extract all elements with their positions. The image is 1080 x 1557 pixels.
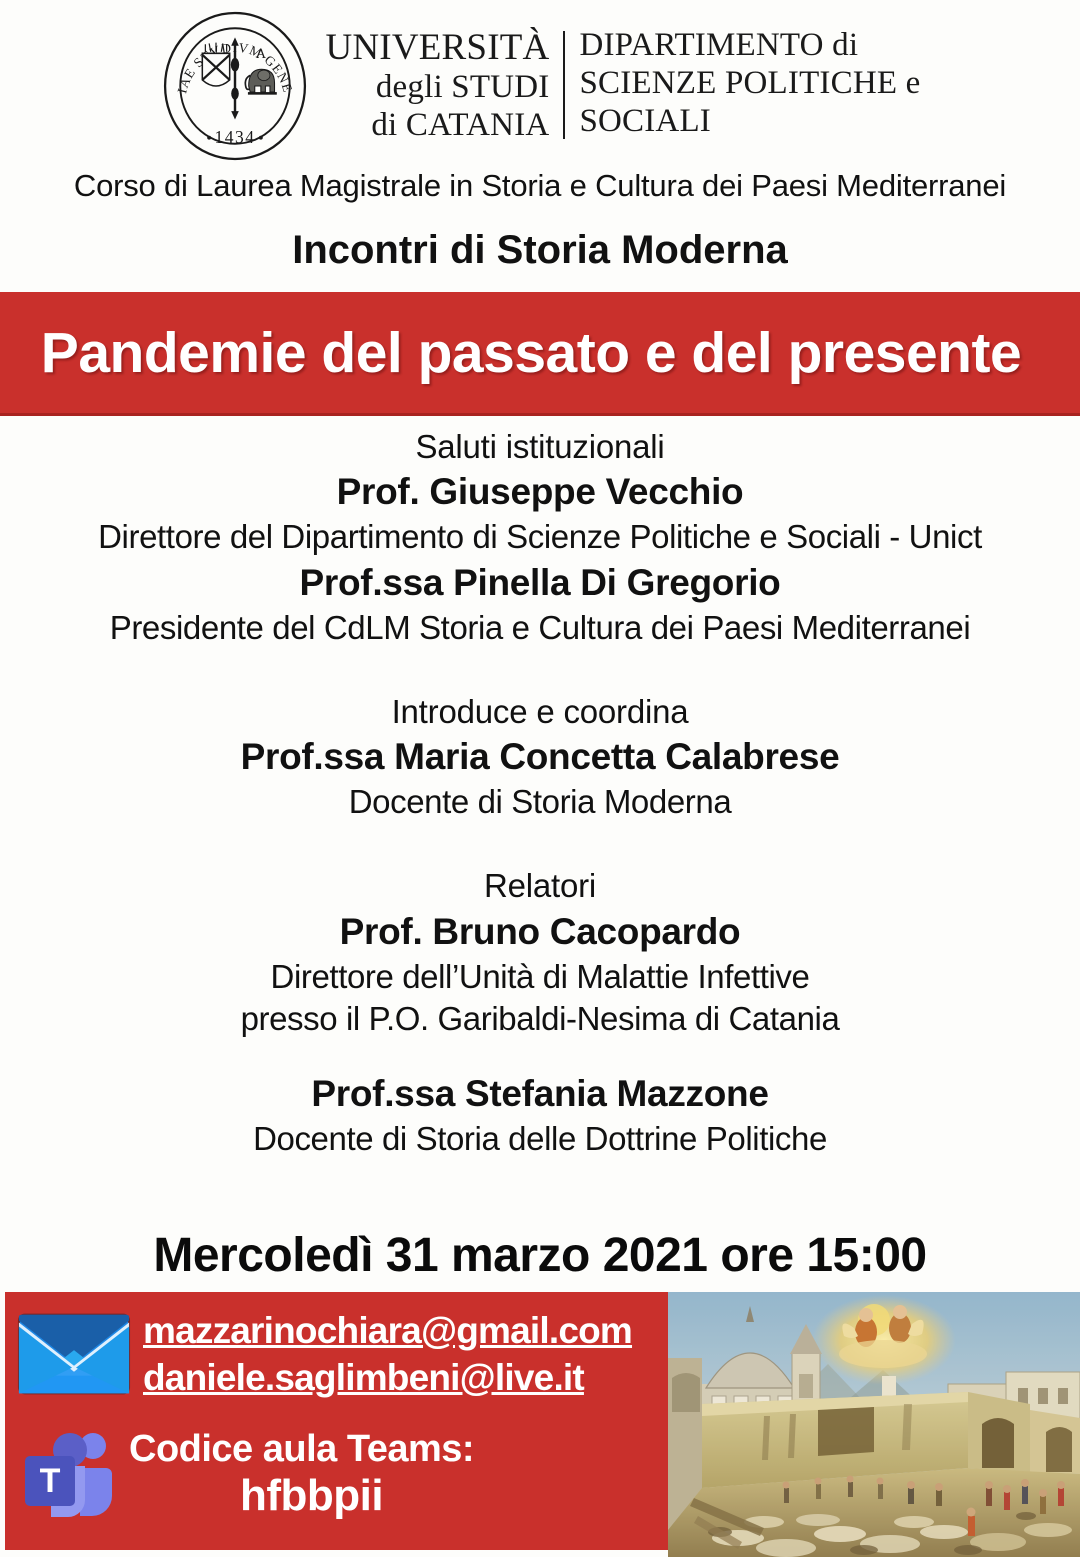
speaker-affiliation: Docente di Storia Moderna: [0, 781, 1080, 823]
spacer: [0, 649, 1080, 691]
teams-info: Codice aula Teams: hfbbpii: [129, 1428, 474, 1521]
university-line-3: di CATANIA: [325, 107, 549, 145]
event-datetime: Mercoledì 31 marzo 2021 ore 15:00: [0, 1228, 1080, 1283]
department-line-3: SOCIALI: [579, 103, 920, 141]
speaker-affiliation-2: presso il P.O. Garibaldi-Nesima di Catan…: [0, 998, 1080, 1040]
speaker-affiliation: Docente di Storia delle Dottrine Politic…: [0, 1118, 1080, 1160]
spacer: [0, 1040, 1080, 1070]
email-row: mazzarinochiara@gmail.com daniele.saglim…: [15, 1306, 660, 1402]
program-group-speakers: Relatori Prof. Bruno Cacopardo Direttore…: [0, 865, 1080, 1160]
speaker-name: Prof.ssa Maria Concetta Calabrese: [0, 733, 1080, 781]
teams-code-label: Codice aula Teams:: [129, 1428, 474, 1471]
university-line-1: UNIVERSITÀ: [325, 27, 549, 69]
speaker-affiliation: Direttore dell’Unità di Malattie Infetti…: [0, 956, 1080, 998]
speaker-name: Prof. Giuseppe Vecchio: [0, 468, 1080, 516]
university-seal-icon: SICILIAE STVDIVM GENERALE A 1434: [159, 10, 311, 162]
poster-root: SICILIAE STVDIVM GENERALE A 1434 UNI: [0, 0, 1080, 1557]
email-address-2[interactable]: daniele.saglimbeni@live.it: [143, 1354, 632, 1401]
speaker-name: Prof. Bruno Cacopardo: [0, 908, 1080, 956]
email-list: mazzarinochiara@gmail.com daniele.saglim…: [143, 1307, 632, 1402]
contact-footer: mazzarinochiara@gmail.com daniele.saglim…: [5, 1292, 670, 1550]
department-line-2: SCIENZE POLITICHE e: [579, 65, 920, 103]
series-title: Incontri di Storia Moderna: [0, 228, 1080, 273]
course-line: Corso di Laurea Magistrale in Storia e C…: [0, 168, 1080, 204]
program-role-label: Relatori: [0, 865, 1080, 907]
program-group-greetings: Saluti istituzionali Prof. Giuseppe Vecc…: [0, 426, 1080, 649]
envelope-icon: [15, 1306, 133, 1402]
event-title: Pandemie del passato e del presente: [0, 320, 1080, 386]
speaker-affiliation: Presidente del CdLM Storia e Cultura dei…: [0, 607, 1080, 649]
program-group-chair: Introduce e coordina Prof.ssa Maria Conc…: [0, 691, 1080, 824]
program-role-label: Saluti istituzionali: [0, 426, 1080, 468]
microsoft-teams-icon: T: [17, 1424, 121, 1524]
university-name: UNIVERSITÀ degli STUDI di CATANIA: [325, 27, 563, 144]
program-body: Saluti istituzionali Prof. Giuseppe Vecc…: [0, 426, 1080, 1161]
department-name: DIPARTIMENTO di SCIENZE POLITICHE e SOCI…: [565, 27, 920, 144]
speaker-name: Prof.ssa Stefania Mazzone: [0, 1070, 1080, 1118]
svg-text:A: A: [256, 46, 267, 62]
plague-scene-artwork: [668, 1292, 1080, 1557]
plague-scene-painting: [668, 1292, 1080, 1557]
title-banner: Pandemie del passato e del presente: [0, 292, 1080, 416]
speaker-affiliation: Direttore del Dipartimento di Scienze Po…: [0, 516, 1080, 558]
department-line-1: DIPARTIMENTO di: [579, 27, 920, 65]
program-role-label: Introduce e coordina: [0, 691, 1080, 733]
institution-wordmark: UNIVERSITÀ degli STUDI di CATANIA DIPART…: [325, 27, 920, 144]
university-line-2: degli STUDI: [325, 69, 549, 107]
teams-code-value: hfbbpii: [129, 1471, 474, 1521]
svg-text:1434: 1434: [215, 127, 256, 147]
spacer: [0, 823, 1080, 865]
university-header: SICILIAE STVDIVM GENERALE A 1434 UNI: [0, 6, 1080, 166]
speaker-name: Prof.ssa Pinella Di Gregorio: [0, 559, 1080, 607]
email-address-1[interactable]: mazzarinochiara@gmail.com: [143, 1307, 632, 1354]
svg-text:T: T: [40, 1462, 61, 1500]
teams-row: T Codice aula Teams: hfbbpii: [17, 1424, 662, 1524]
